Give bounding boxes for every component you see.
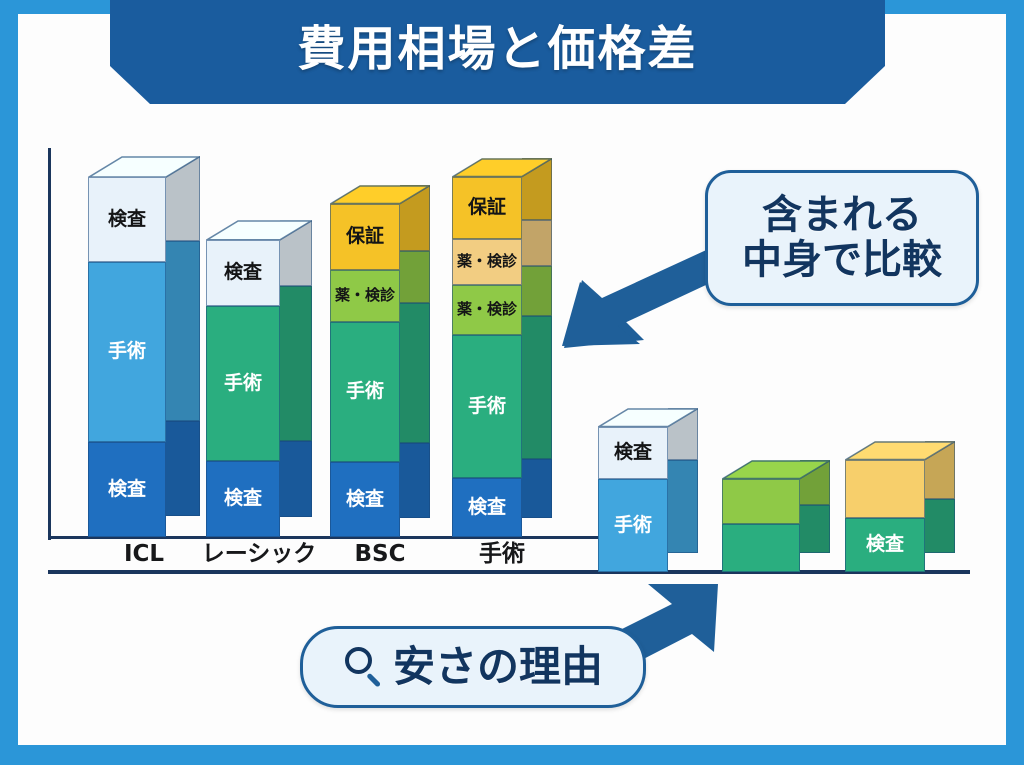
bar-column: 検査 (845, 441, 955, 572)
bar-top-face-outline (845, 441, 955, 462)
bar-segment-label: 検査 (108, 480, 146, 499)
bar-segment-label: 手術 (346, 382, 384, 401)
bar-segment-label: 保証 (468, 198, 506, 217)
bar-segment-label: 検査 (224, 489, 262, 508)
bar-segment: 手術 (88, 262, 166, 442)
x-axis-lower-line (48, 570, 970, 574)
bar-side-bottom-wedge (166, 516, 200, 537)
bar-side-bottom-wedge (400, 518, 430, 537)
bar-segment-label: 検査 (468, 498, 506, 517)
bar-top-face-outline (330, 185, 430, 206)
bar-top-face-outline (598, 408, 698, 429)
bar-segment-side (668, 460, 698, 553)
bar-segment-side (280, 286, 312, 441)
page-title: 費用相場と価格差 (297, 25, 697, 79)
infographic-canvas: 費用相場と価格差 検査手術検査検査手術検査保証薬・検診手術検査保証薬・検診薬・検… (0, 0, 1024, 765)
bar-segment: 検査 (206, 240, 280, 306)
bar-segment-label: 検査 (224, 263, 262, 282)
callout-top-line2: 中身で比較 (742, 238, 942, 283)
bar-side-bottom-wedge (925, 553, 955, 572)
bar-segment (722, 479, 800, 524)
bar-segment: 検査 (845, 518, 925, 572)
bar-segment (722, 524, 800, 572)
bar-segment-label: 手術 (108, 342, 146, 361)
bar-segment: 検査 (452, 478, 522, 537)
bar-segment-label: 検査 (108, 210, 146, 229)
bar-top-face-outline (206, 220, 312, 242)
bar-column: 検査手術検査 (206, 220, 312, 537)
bar-segment (845, 460, 925, 518)
bar-segment-side (400, 303, 430, 443)
bar-segment-side (400, 443, 430, 518)
callout-compare-contents[interactable]: 含まれる 中身で比較 (705, 170, 979, 306)
bar-segment-label: 検査 (866, 535, 904, 554)
bar-segment-side (280, 441, 312, 517)
bar-side-bottom-wedge (800, 553, 830, 572)
bar-segment-label: 保証 (346, 227, 384, 246)
bar-segment: 薬・検診 (452, 239, 522, 285)
bar-segment-side (166, 241, 200, 421)
bar-segment-label: 薬・検診 (335, 288, 395, 303)
category-label: 手術 (430, 543, 574, 566)
bar-column: 保証薬・検診手術検査 (330, 185, 430, 537)
bar-segment: 検査 (88, 177, 166, 262)
bar-segment: 検査 (206, 461, 280, 537)
bar-column: 検査手術検査 (88, 156, 200, 537)
callout-reason-for-low-price[interactable]: 安さの理由 (300, 626, 646, 708)
bar-segment: 薬・検診 (452, 285, 522, 335)
bar-segment: 手術 (598, 479, 668, 572)
bar-segment-side (522, 459, 552, 518)
bar-segment-label: 検査 (614, 443, 652, 462)
bar-segment-side (400, 251, 430, 303)
bar-segment: 検査 (598, 427, 668, 479)
bar-segment-side (166, 421, 200, 516)
bar-segment: 保証 (452, 177, 522, 239)
bar-segment: 検査 (88, 442, 166, 537)
bar-side-bottom-wedge (668, 553, 698, 572)
bar-segment-side (800, 505, 830, 553)
search-icon (343, 646, 385, 688)
bar-segment-label: 手術 (468, 397, 506, 416)
bar-side-bottom-wedge (280, 517, 312, 537)
callout-bottom-label: 安さの理由 (393, 643, 603, 690)
bar-segment-side (925, 499, 955, 553)
bar-segment-label: 薬・検診 (457, 254, 517, 269)
bar-segment: 検査 (330, 462, 400, 537)
bar-column (722, 460, 830, 572)
bar-side-bottom-wedge (522, 518, 552, 537)
bar-segment: 手術 (206, 306, 280, 461)
bar-column: 保証薬・検診薬・検診手術検査 (452, 158, 552, 537)
title-banner: 費用相場と価格差 (110, 0, 885, 104)
callout-top-text: 含まれる 中身で比較 (742, 193, 942, 283)
bar-segment-label: 薬・検診 (457, 302, 517, 317)
bar-top-face-outline (452, 158, 552, 179)
bar-column: 検査手術 (598, 408, 698, 572)
bar-segment-label: 手術 (224, 374, 262, 393)
bar-segment-label: 検査 (346, 490, 384, 509)
bar-segment-label: 手術 (614, 516, 652, 535)
bar-segment: 薬・検診 (330, 270, 400, 322)
bar-top-face-outline (722, 460, 830, 481)
bar-segment: 手術 (452, 335, 522, 478)
callout-top-line1: 含まれる (742, 193, 942, 238)
bar-segment: 保証 (330, 204, 400, 270)
y-axis-line (48, 148, 51, 540)
bar-segment: 手術 (330, 322, 400, 462)
bar-top-face-outline (88, 156, 200, 179)
